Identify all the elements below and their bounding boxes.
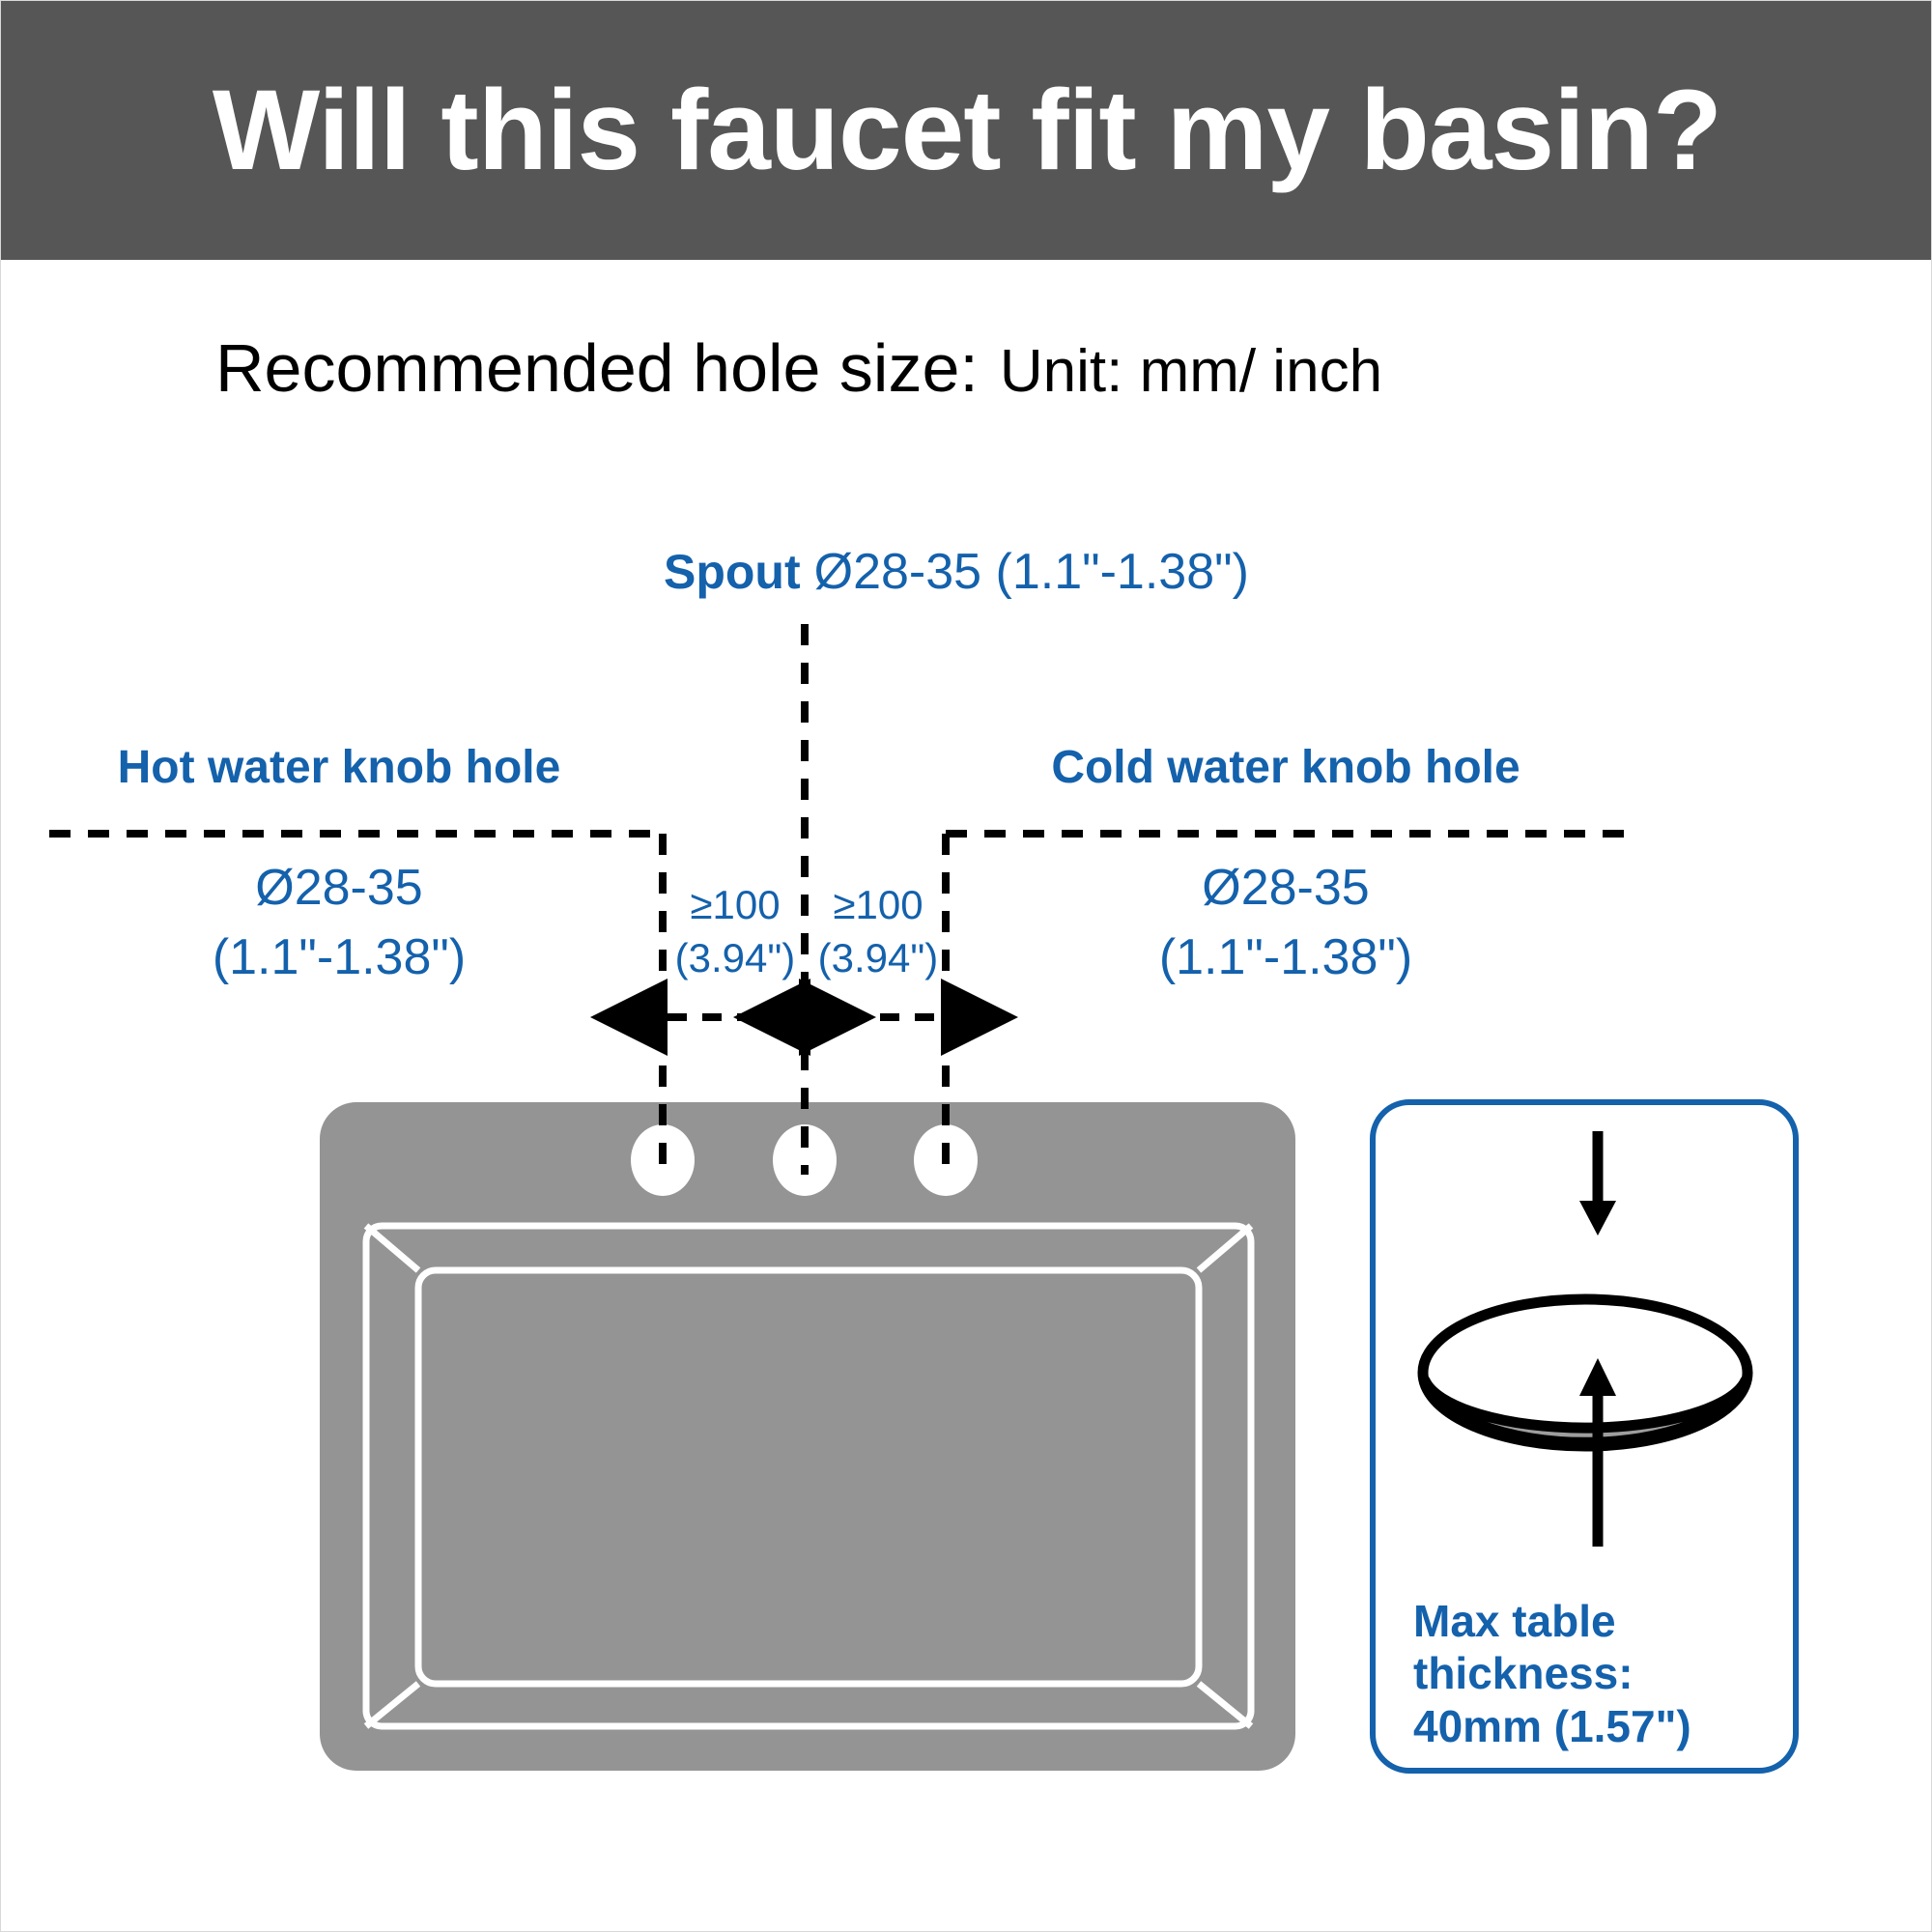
callout-spout: Spout Ø28-35 (1.1"-1.38") <box>664 547 1249 597</box>
spout-label: Spout <box>664 548 801 596</box>
subtitle-recommended-hole-size: Recommended hole size: <box>215 334 979 402</box>
cold-water-diameter-mm: Ø28-35 <box>977 863 1595 913</box>
callout-hot-water: Hot water knob hole Ø28-35 (1.1"-1.38") <box>59 745 619 982</box>
down-arrow-icon <box>1579 1131 1616 1236</box>
down-arrow-head <box>1579 1201 1616 1236</box>
hot-water-diameter-mm: Ø28-35 <box>59 863 619 913</box>
subtitle-row: Recommended hole size: Unit: mm/ inch <box>215 334 1382 402</box>
basin-inner-bowl <box>418 1270 1199 1684</box>
header-banner: Will this faucet fit my basin? <box>1 1 1932 260</box>
up-arrow-head <box>1579 1358 1616 1396</box>
hole-cold-water <box>914 1124 978 1196</box>
spout-diameter-spec: Ø28-35 (1.1"-1.38") <box>814 547 1249 597</box>
inset-caption-line-3: 40mm (1.57") <box>1413 1700 1691 1752</box>
hole-spout <box>773 1124 837 1196</box>
basin-bevel-bottom-left <box>366 1684 418 1726</box>
spacing-right-value: ≥100 <box>810 885 946 925</box>
basin-bevel-top-right <box>1199 1226 1251 1270</box>
basin-bevel-top-left <box>366 1226 418 1270</box>
hole-top-ellipse <box>1423 1299 1747 1446</box>
inset-caption-line-2: thickness: <box>1413 1647 1691 1699</box>
basin-drawing <box>320 1102 1295 1771</box>
countertop-hole-illustration <box>1423 1299 1747 1446</box>
cold-water-title: Cold water knob hole <box>977 745 1595 791</box>
spacing-label-right: ≥100 (3.94") <box>810 885 946 979</box>
hole-hot-water <box>631 1124 695 1196</box>
hot-water-title: Hot water knob hole <box>59 745 619 791</box>
callout-cold-water: Cold water knob hole Ø28-35 (1.1"-1.38") <box>977 745 1595 982</box>
infographic-page: Will this faucet fit my basin? Recommend… <box>0 0 1932 1932</box>
spacing-label-left: ≥100 (3.94") <box>668 885 803 979</box>
subtitle-unit: Unit: mm/ inch <box>1000 342 1382 402</box>
basin-outer-rim <box>366 1226 1251 1726</box>
basin-bevel-bottom-right <box>1199 1684 1251 1726</box>
cold-water-diameter-inch: (1.1"-1.38") <box>977 932 1595 982</box>
spacing-right-inch: (3.94") <box>810 938 946 979</box>
basin-body <box>320 1102 1295 1771</box>
inset-caption-line-1: Max table <box>1413 1595 1691 1647</box>
inset-caption: Max table thickness: 40mm (1.57") <box>1413 1595 1691 1752</box>
spacing-left-inch: (3.94") <box>668 938 803 979</box>
spacing-left-value: ≥100 <box>668 885 803 925</box>
up-arrow-icon <box>1579 1358 1616 1547</box>
hole-inner-shading <box>1425 1380 1746 1442</box>
hot-water-diameter-inch: (1.1"-1.38") <box>59 932 619 982</box>
page-title: Will this faucet fit my basin? <box>1 1 1932 260</box>
